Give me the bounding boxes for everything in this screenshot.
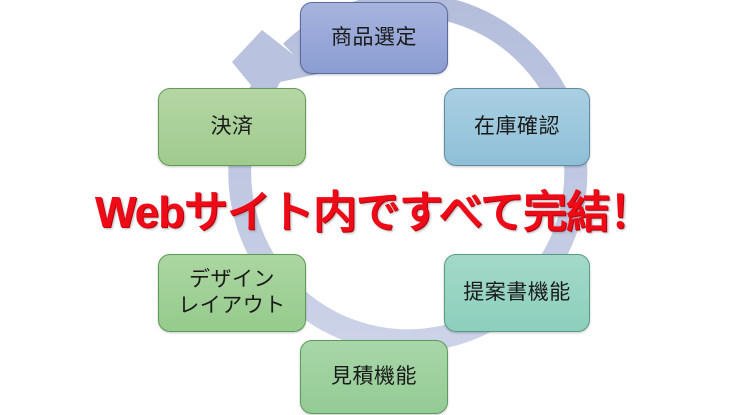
headline-text: Webサイト内ですべて完結！ — [0, 176, 747, 240]
cycle-diagram-canvas: 商品選定 在庫確認 提案書機能 見積機能 デザイン レイアウト 決済 Webサイ… — [0, 0, 747, 415]
node-label: 提案書機能 — [463, 280, 571, 306]
node-product-selection[interactable]: 商品選定 — [300, 2, 448, 74]
node-label: 決済 — [211, 114, 254, 140]
node-design-layout[interactable]: デザイン レイアウト — [158, 254, 306, 332]
node-label: 在庫確認 — [474, 114, 560, 140]
node-proposal-function[interactable]: 提案書機能 — [444, 254, 590, 332]
node-stock-check[interactable]: 在庫確認 — [444, 88, 590, 166]
node-payment[interactable]: 決済 — [158, 88, 306, 166]
node-label: 商品選定 — [331, 25, 417, 51]
node-label: デザイン レイアウト — [178, 267, 286, 318]
node-quotation-function[interactable]: 見積機能 — [300, 340, 448, 414]
node-label: 見積機能 — [331, 364, 417, 390]
